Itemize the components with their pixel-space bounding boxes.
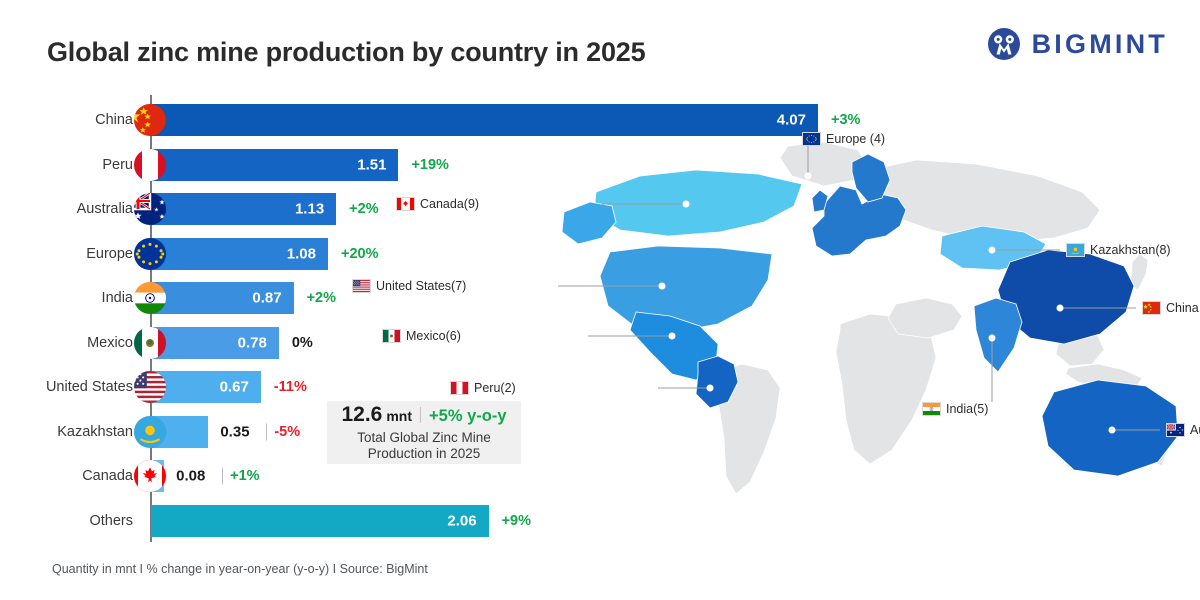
bar-value: 1.51	[357, 156, 386, 173]
map-callout: Mexico(6)	[382, 329, 461, 343]
bar-change: +2%	[307, 290, 336, 306]
map-callout-label: Europe (4)	[826, 132, 885, 146]
map-callout: Europe (4)	[802, 132, 885, 146]
total-change: +5% y-o-y	[429, 407, 507, 426]
peru-flag	[134, 149, 166, 181]
value-divider	[222, 468, 223, 485]
page-title: Global zinc mine production by country i…	[47, 37, 645, 68]
bar-value: 0.87	[252, 290, 281, 307]
bar-label: Australia	[0, 201, 133, 217]
header: Global zinc mine production by country i…	[0, 0, 1200, 92]
map-callout-label: Canada(9)	[420, 197, 479, 211]
kazakhstan-flag	[134, 416, 166, 448]
mexico-flag	[382, 329, 401, 343]
kazakhstan-flag	[1066, 243, 1085, 257]
europe-flag	[134, 238, 166, 270]
bar-label: China	[0, 112, 133, 128]
chart-row: India0.87+2%	[0, 281, 560, 315]
bar-value: 0.78	[238, 334, 267, 351]
chart-row: China4.07+3%	[0, 103, 560, 137]
bar-value: 2.06	[447, 512, 476, 529]
china-flag	[134, 104, 166, 136]
total-headline: 12.6 mnt +5% y-o-y	[341, 403, 506, 427]
bar-change: +20%	[341, 246, 379, 262]
chart-row: Others2.06+9%	[0, 504, 560, 538]
united-states-flag	[352, 279, 371, 293]
bar-value: 0.08	[176, 468, 205, 485]
brand-logo: BIGMINT	[987, 27, 1168, 61]
world-map-graphic	[540, 140, 1200, 500]
bar-label: Peru	[0, 157, 133, 173]
bar-label: Mexico	[0, 335, 133, 351]
map-callout-label: India(5)	[946, 402, 988, 416]
total-production-card: 12.6 mnt +5% y-o-y Total Global Zinc Min…	[327, 401, 521, 464]
total-caption: Total Global Zinc Mine Production in 202…	[357, 430, 491, 462]
chart-row: Peru1.51+19%	[0, 148, 560, 182]
total-divider	[420, 407, 421, 423]
total-unit: mnt	[386, 408, 412, 424]
bar-label: Others	[0, 513, 133, 529]
chart-row: Europe1.08+20%	[0, 237, 560, 271]
map-callout-label: Australia(3)	[1190, 423, 1200, 437]
total-caption-line2: Production in 2025	[368, 446, 481, 461]
bar-change: -5%	[274, 424, 300, 440]
map-callout: Kazakhstan(8)	[1066, 243, 1171, 257]
brand-name: BIGMINT	[1032, 29, 1168, 60]
map-callout: India(5)	[922, 402, 988, 416]
bar-value: 0.67	[220, 379, 249, 396]
bar-change: +3%	[831, 112, 860, 128]
bigmint-circle-figures-icon	[987, 27, 1021, 61]
total-value: 12.6	[341, 403, 382, 427]
bar-label: Canada	[0, 468, 133, 484]
europe-flag	[802, 132, 821, 146]
bar-value: 0.35	[220, 423, 249, 440]
total-caption-line1: Total Global Zinc Mine	[357, 430, 491, 445]
bar-label: United States	[0, 379, 133, 395]
bar-change: -11%	[274, 379, 307, 395]
bar-value: 1.13	[295, 201, 324, 218]
mexico-flag	[134, 327, 166, 359]
bar-label: Kazakhstan	[0, 424, 133, 440]
bar-change: +19%	[411, 157, 449, 173]
map-callout: United States(7)	[352, 279, 466, 293]
map-callout-label: Mexico(6)	[406, 329, 461, 343]
map-callout-label: United States(7)	[376, 279, 466, 293]
india-flag	[922, 402, 941, 416]
bar-change: +1%	[230, 468, 259, 484]
map-callout-label: Peru(2)	[474, 381, 516, 395]
india-flag	[134, 282, 166, 314]
bar-others	[151, 505, 489, 537]
map-callout-label: China (1)	[1166, 301, 1200, 315]
china-flag	[1142, 301, 1161, 315]
bar-change: 0%	[292, 335, 313, 351]
bar-value: 1.08	[287, 245, 316, 262]
peru-flag	[450, 381, 469, 395]
map-callout: Canada(9)	[396, 197, 479, 211]
world-map: Europe (4)Canada(9)United States(7)Mexic…	[540, 140, 1200, 500]
value-divider	[266, 423, 267, 440]
map-callout: Peru(2)	[450, 381, 516, 395]
bar-label: Europe	[0, 246, 133, 262]
footer-note: Quantity in mnt I % change in year-on-ye…	[52, 562, 428, 576]
map-callout-label: Kazakhstan(8)	[1090, 243, 1171, 257]
chart-row: Canada0.08+1%	[0, 459, 560, 493]
canada-flag	[134, 460, 166, 492]
bar-change: +2%	[349, 201, 378, 217]
australia-flag	[134, 193, 166, 225]
australia-flag	[1166, 423, 1185, 437]
bar-value: 4.07	[777, 112, 806, 129]
bar-change: +9%	[502, 513, 531, 529]
chart-row: Mexico0.780%	[0, 326, 560, 360]
canada-flag	[396, 197, 415, 211]
bar-china	[151, 104, 818, 136]
map-callout: China (1)	[1142, 301, 1200, 315]
bar-chart: China4.07+3%Peru1.51+19%Australia1.13+2%…	[0, 95, 560, 545]
united-states-flag	[134, 371, 166, 403]
bar-label: India	[0, 290, 133, 306]
map-callout: Australia(3)	[1166, 423, 1200, 437]
